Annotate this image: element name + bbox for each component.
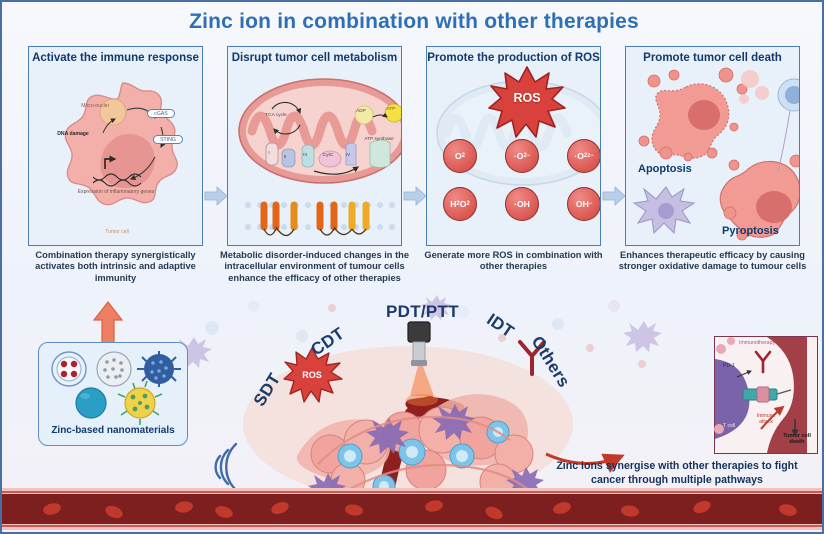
nanoparticle-spiky-blue [137, 351, 181, 387]
ros-species-hydroxide: OH− [567, 187, 601, 221]
tumor-cell-immune-diagram [43, 77, 203, 237]
inset-label-t-cell: T cell [723, 423, 735, 429]
ros-species-hydroxyl-radical: ·OH [505, 187, 539, 221]
figure-title: Zinc ion in combination with other thera… [2, 10, 824, 34]
panel-2-box: Disrupt tumor cell metabolism [227, 46, 402, 246]
ros-species-peroxide-anion: ·O22− [567, 139, 601, 173]
nanoparticle-icons [47, 349, 181, 417]
label-atp-synthase: ATP synthase [364, 137, 394, 142]
blood-vessel-band [2, 482, 824, 534]
panel-2-caption: Metabolic disorder-induced changes in th… [217, 250, 412, 284]
nanoparticle-liposome [52, 352, 86, 386]
panel-immune-response: Activate the immune response [16, 46, 215, 296]
label-cgas: cGAS [147, 109, 175, 118]
inset-label-tumor-cell-death: Tumor cell death [779, 433, 815, 446]
label-inflammatory-genes: Expression of inflammatory genes [77, 189, 155, 195]
label-dna-damage: DNA damage [57, 131, 89, 137]
zinc-nanomaterials-label: Zinc-based nanomaterials [39, 425, 187, 437]
panel-3-title: Promote the production of ROS [427, 52, 600, 65]
mitochondrion-diagram [236, 73, 402, 193]
panel-4-title: Promote tumor cell death [626, 52, 799, 65]
panel-row: Activate the immune response [16, 46, 812, 296]
panel-3-caption: Generate more ROS in combination with ot… [416, 250, 611, 273]
ros-species-h2o2: H2O2 [443, 187, 477, 221]
nanoparticle-solid-teal [76, 388, 106, 418]
panel-cell-death: Promote tumor cell death [613, 46, 812, 296]
label-complex-iii: III [300, 153, 310, 158]
inset-label-immune-attack: Immune attack [749, 413, 783, 425]
panel-metabolism: Disrupt tumor cell metabolism [215, 46, 414, 296]
label-sting: STING [153, 135, 183, 144]
label-tca-cycle: TCA cycle [262, 113, 290, 118]
panel-4-box: Promote tumor cell death [625, 46, 800, 246]
panel-3-box: Promote the production of ROS ROS O2 ·O2… [426, 46, 601, 246]
lower-scene: Zinc-based nanomaterials [2, 294, 824, 534]
ros-burst-label: ROS [489, 91, 565, 105]
flow-arrow-3-4 [603, 186, 625, 206]
panel-2-title: Disrupt tumor cell metabolism [228, 52, 401, 65]
label-complex-iv: IV [342, 153, 354, 158]
panel-1-caption: Combination therapy synergistically acti… [18, 250, 213, 284]
label-tumor-cell: Tumor cell [91, 229, 143, 235]
therapy-label-pdt-ptt: PDT/PTT [386, 302, 459, 322]
cell-death-diagram [626, 67, 800, 246]
panel-ros-production: Promote the production of ROS ROS O2 ·O2… [414, 46, 613, 296]
nanoparticle-mesoporous [97, 352, 131, 386]
zinc-nanomaterials-box: Zinc-based nanomaterials [38, 342, 188, 446]
pdt-ptt-laser-device [402, 322, 436, 372]
label-atp: ATP [382, 107, 400, 112]
membrane-proteins-diagram [242, 197, 400, 245]
figure-root: Zinc ion in combination with other thera… [0, 0, 824, 534]
label-pyroptosis: Pyroptosis [722, 225, 779, 237]
label-adp: ADP [352, 109, 370, 114]
label-micronuclei: Micro-nuclei [77, 103, 113, 109]
ros-species-superoxide: ·O2− [505, 139, 539, 173]
immunotherapy-inset: Immunotherapy PD-1 T cell Immune attack … [714, 336, 818, 454]
flow-arrow-1-2 [205, 186, 227, 206]
nanoparticle-yellow-ligands [118, 381, 162, 425]
panel-4-caption: Enhances therapeutic efficacy by causing… [615, 250, 810, 273]
inset-label-pd1: PD-1 [723, 363, 735, 369]
svg-text:ROS: ROS [302, 370, 322, 380]
flow-arrow-2-3 [404, 186, 426, 206]
ros-species-o2: O2 [443, 139, 477, 173]
panel-1-title: Activate the immune response [29, 52, 202, 65]
label-apoptosis: Apoptosis [638, 163, 692, 175]
label-complex-ii: II [280, 155, 290, 160]
label-cytc: CytC [318, 153, 338, 158]
panel-1-box: Activate the immune response [28, 46, 203, 246]
inset-title: Immunotherapy [739, 340, 775, 346]
bottom-caption: Zinc ions synergise with other therapies… [538, 460, 816, 487]
label-complex-i: I [264, 151, 274, 156]
